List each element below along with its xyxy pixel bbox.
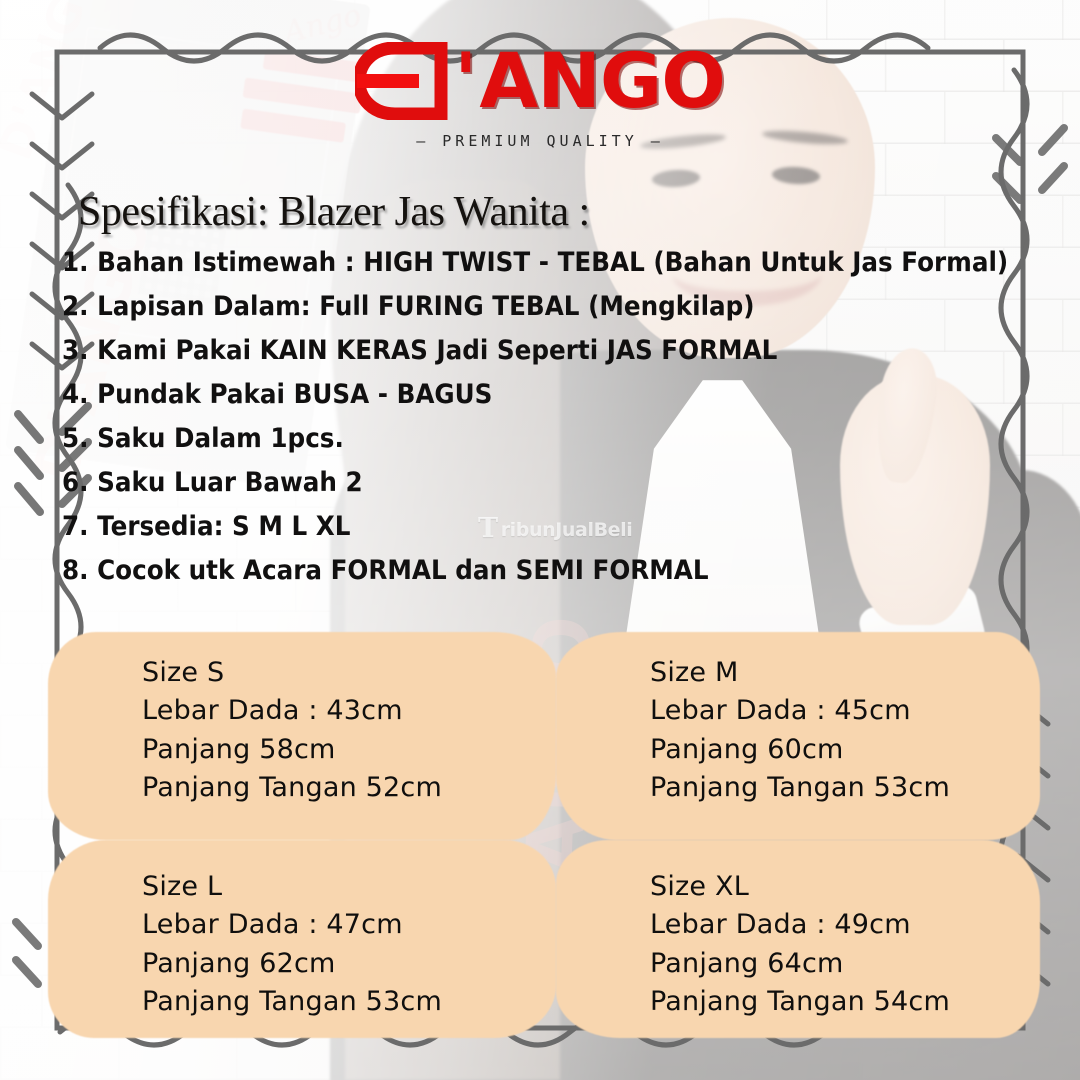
brand-apostrophe: ' bbox=[454, 43, 476, 119]
size-card-l: Size L Lebar Dada : 47cm Panjang 62cm Pa… bbox=[48, 840, 556, 1038]
brand-name: ANGO bbox=[479, 43, 724, 119]
brand-logo: ' ANGO – PREMIUM QUALITY – bbox=[0, 42, 1080, 150]
size-card-m-sleeve: Panjang Tangan 53cm bbox=[650, 769, 950, 807]
infographic-canvas: Ango D'ANGO D'ANGO ANGO bbox=[0, 0, 1080, 1080]
spec-item-5: 5. Saku Dalam 1pcs. bbox=[62, 426, 955, 453]
size-card-m-chest: Lebar Dada : 45cm bbox=[650, 692, 950, 730]
spec-item-8: 8. Cocok utk Acara FORMAL dan SEMI FORMA… bbox=[62, 558, 955, 585]
spec-item-1: 1. Bahan Istimewah : HIGH TWIST - TEBAL … bbox=[62, 250, 955, 277]
size-card-l-chest: Lebar Dada : 47cm bbox=[142, 906, 442, 944]
spec-item-3: 3. Kami Pakai KAIN KERAS Jadi Seperti JA… bbox=[62, 338, 955, 365]
brand-tagline: – PREMIUM QUALITY – bbox=[0, 132, 1080, 150]
size-card-xl-chest: Lebar Dada : 49cm bbox=[650, 906, 950, 944]
size-card-s-sleeve: Panjang Tangan 52cm bbox=[142, 769, 442, 807]
size-chart: Size S Lebar Dada : 43cm Panjang 58cm Pa… bbox=[48, 632, 1040, 1038]
size-card-l-length: Panjang 62cm bbox=[142, 945, 442, 983]
size-card-xl-length: Panjang 64cm bbox=[650, 945, 950, 983]
size-card-xl-title: Size XL bbox=[650, 868, 950, 906]
size-card-l-title: Size L bbox=[142, 868, 442, 906]
spec-item-4: 4. Pundak Pakai BUSA - BAGUS bbox=[62, 382, 955, 409]
size-card-xl: Size XL Lebar Dada : 49cm Panjang 64cm P… bbox=[556, 840, 1040, 1038]
size-card-xl-sleeve: Panjang Tangan 54cm bbox=[650, 983, 950, 1021]
spec-item-6: 6. Saku Luar Bawah 2 bbox=[62, 470, 955, 497]
page-title: Spesifikasi: Blazer Jas Wanita : bbox=[78, 188, 590, 236]
size-card-l-sleeve: Panjang Tangan 53cm bbox=[142, 983, 442, 1021]
spec-item-2: 2. Lapisan Dalam: Full FURING TEBAL (Men… bbox=[62, 294, 955, 321]
size-card-s-length: Panjang 58cm bbox=[142, 731, 442, 769]
size-card-s-chest: Lebar Dada : 43cm bbox=[142, 692, 442, 730]
size-card-m-title: Size M bbox=[650, 654, 950, 692]
tribunjualbeli-watermark: T ribunJualBeli bbox=[478, 517, 632, 542]
specification-list: 1. Bahan Istimewah : HIGH TWIST - TEBAL … bbox=[62, 250, 1022, 602]
size-card-s: Size S Lebar Dada : 43cm Panjang 58cm Pa… bbox=[48, 632, 556, 840]
size-card-s-title: Size S bbox=[142, 654, 442, 692]
tribun-watermark-label: ribunJualBeli bbox=[501, 519, 633, 541]
tribun-t-mark-icon: T bbox=[478, 515, 498, 542]
size-card-m-length: Panjang 60cm bbox=[650, 731, 950, 769]
reversed-d-mark-icon bbox=[355, 42, 451, 120]
size-card-m: Size M Lebar Dada : 45cm Panjang 60cm Pa… bbox=[556, 632, 1040, 840]
